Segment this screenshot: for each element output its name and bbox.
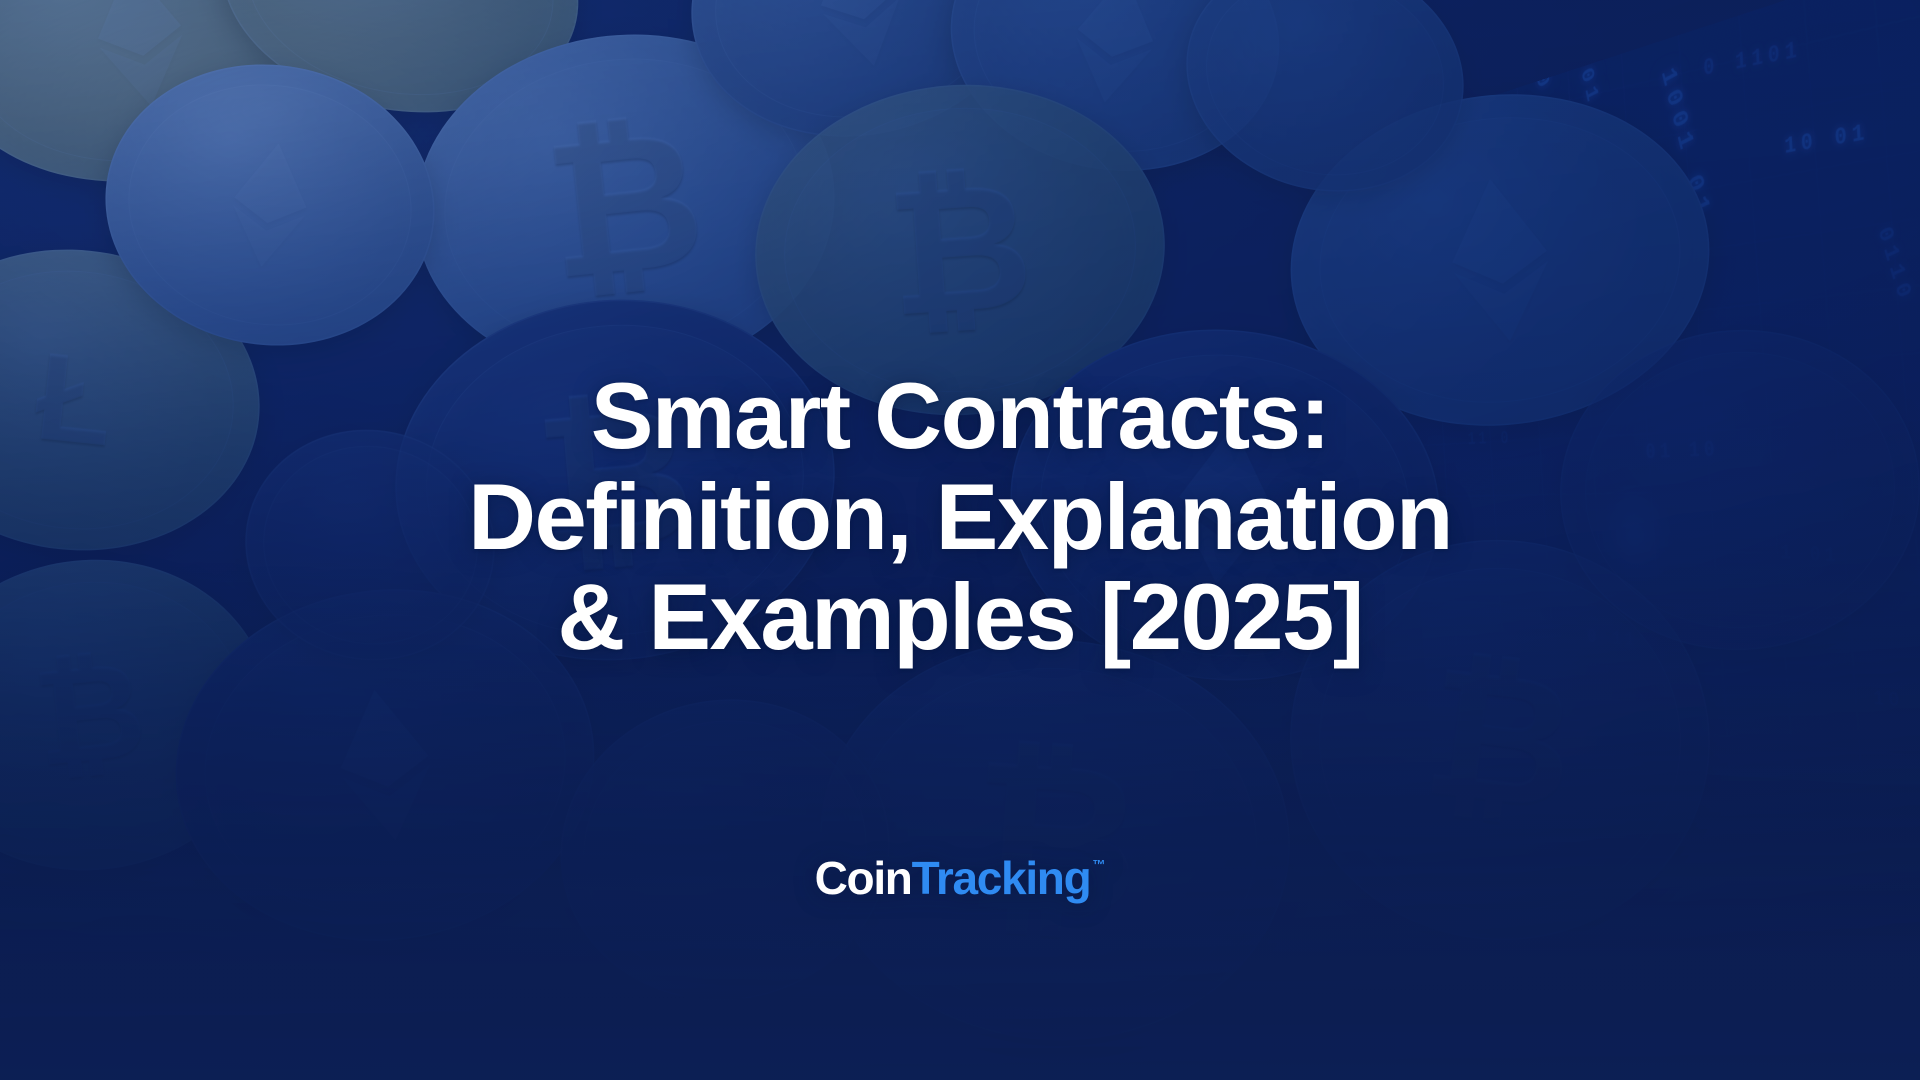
trademark-icon: ™ (1092, 858, 1105, 871)
hero-banner: 01001 10 0110 1001 10 0110 01 101 1001 0… (0, 0, 1920, 1080)
page-title: Smart Contracts: Definition, Explanation… (388, 366, 1532, 668)
headline-line-1: Smart Contracts: (468, 366, 1452, 467)
logo-text-coin: Coin (815, 855, 912, 901)
headline-line-3: & Examples [2025] (468, 567, 1452, 668)
headline-line-2: Definition, Explanation (468, 467, 1452, 568)
logo-text-tracking: Tracking (912, 855, 1091, 901)
banner-content: Smart Contracts: Definition, Explanation… (0, 0, 1920, 1080)
cointracking-logo[interactable]: Coin Tracking ™ (815, 855, 1106, 901)
